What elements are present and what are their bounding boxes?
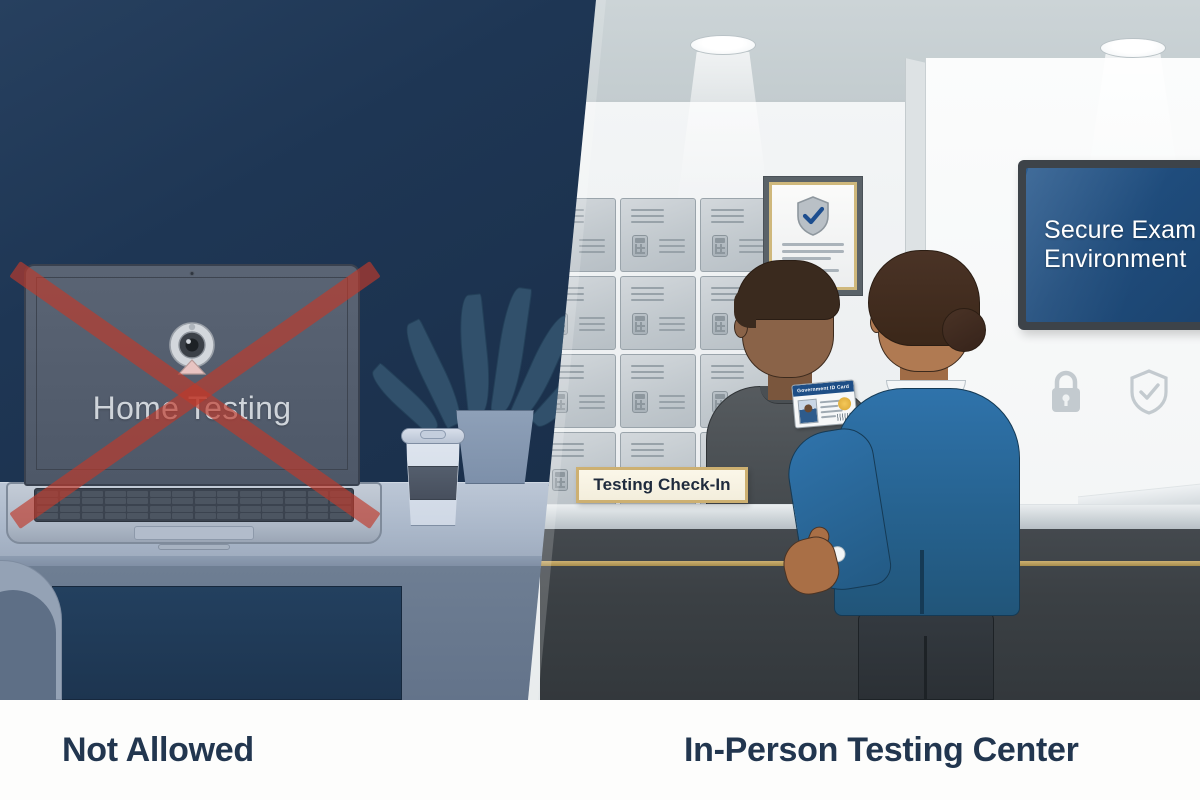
keyboard-key	[127, 506, 148, 512]
locker-door	[620, 354, 696, 428]
scene: Secure Exam Environment	[0, 0, 1200, 700]
locker-vent	[631, 449, 664, 451]
locker-vent	[659, 251, 684, 253]
keyboard-key	[37, 506, 58, 512]
locker-vent	[631, 455, 664, 457]
staff-hair-bun	[942, 308, 986, 352]
keyboard-key	[105, 506, 126, 512]
keyboard-key	[37, 498, 58, 504]
keyboard-key	[330, 498, 351, 504]
keyboard-key	[150, 506, 171, 512]
keyboard-key	[285, 513, 306, 519]
keyboard-key	[217, 491, 238, 497]
test-taker-sideburn	[734, 288, 756, 328]
keyboard-key	[308, 506, 329, 512]
locker-vent	[579, 239, 604, 241]
laptop: Home Testing	[6, 264, 382, 560]
locker-vent	[659, 239, 684, 241]
locker-vent	[659, 317, 684, 319]
keyboard-key	[240, 491, 261, 497]
locker-vent	[551, 443, 584, 445]
keyboard-key	[308, 498, 329, 504]
monitor-screen: Secure Exam Environment	[1026, 168, 1200, 322]
coffee-cup	[404, 428, 462, 526]
keyboard-key	[172, 491, 193, 497]
keyboard-key	[285, 491, 306, 497]
locker-vent	[659, 407, 684, 409]
locker-keypad-icon	[632, 235, 648, 257]
locker-vent	[579, 401, 604, 403]
keyboard-key	[82, 513, 103, 519]
security-icon-row	[1046, 368, 1200, 416]
locker-vent	[579, 317, 604, 319]
keyboard-key	[195, 513, 216, 519]
keyboard-key	[195, 491, 216, 497]
keyboard-key	[330, 491, 351, 497]
keyboard-key	[150, 491, 171, 497]
monitor-message: Secure Exam Environment	[1026, 216, 1196, 275]
keyboard-key	[217, 506, 238, 512]
ceiling-light-icon	[690, 35, 756, 55]
keyboard-key	[172, 506, 193, 512]
keyboard-key	[240, 498, 261, 504]
wall-monitor: Secure Exam Environment	[1018, 160, 1200, 330]
keyboard-key	[262, 506, 283, 512]
keyboard-key	[37, 513, 58, 519]
keyboard-key	[37, 491, 58, 497]
keyboard-key	[195, 506, 216, 512]
keyboard-key	[60, 498, 81, 504]
keyboard-key	[262, 498, 283, 504]
webcam-icon	[161, 320, 223, 376]
laptop-screen: Home Testing	[36, 277, 348, 470]
ceiling-light-icon	[1100, 38, 1166, 58]
locker-vent	[579, 329, 604, 331]
shield-check-icon	[795, 195, 831, 237]
locker-vent	[631, 293, 664, 295]
laptop-lid: Home Testing	[24, 264, 360, 486]
locker-vent	[631, 443, 664, 445]
cup-lid-tab	[420, 430, 446, 439]
keyboard-key	[240, 513, 261, 519]
keyboard-key	[127, 491, 148, 497]
locker-vent	[579, 323, 604, 325]
keyboard-key	[240, 506, 261, 512]
staff-member	[824, 250, 1030, 700]
keyboard-key	[60, 513, 81, 519]
locker-vent	[631, 299, 664, 301]
monitor-line-2: Environment	[1044, 245, 1196, 275]
cup-sleeve	[408, 466, 458, 500]
laptop-trackpad	[134, 526, 254, 540]
locker-door	[620, 276, 696, 350]
locker-vent	[631, 365, 664, 367]
staff-leg-split	[924, 636, 927, 700]
locker-vent	[739, 239, 764, 241]
keyboard-key	[172, 513, 193, 519]
locker-vent	[739, 245, 764, 247]
office-chair-seat	[0, 590, 56, 700]
locker-vent	[579, 407, 604, 409]
locker-vent	[631, 221, 664, 223]
laptop-keyboard	[34, 488, 354, 522]
keyboard-key	[60, 506, 81, 512]
locker-keypad-icon	[632, 313, 648, 335]
keyboard-key	[105, 513, 126, 519]
keyboard-key	[105, 491, 126, 497]
keyboard-key	[127, 513, 148, 519]
keyboard-key	[217, 498, 238, 504]
locker-vent	[631, 377, 664, 379]
keyboard-key	[172, 498, 193, 504]
laptop-camera-dot	[190, 271, 195, 276]
monitor-line-1: Secure Exam	[1044, 216, 1196, 246]
illustration-stage: Secure Exam Environment	[0, 0, 1200, 800]
locker-keypad-icon	[552, 469, 568, 491]
lock-icon	[1046, 368, 1086, 416]
locker-vent	[579, 245, 604, 247]
keyboard-key	[82, 491, 103, 497]
locker-vent	[659, 329, 684, 331]
keyboard-key	[82, 498, 103, 504]
locker-vent	[631, 287, 664, 289]
home-desk-drawer	[52, 586, 402, 700]
locker-vent	[551, 455, 584, 457]
locker-vent	[631, 371, 664, 373]
locker-door	[620, 198, 696, 272]
plant-pot	[456, 410, 534, 484]
caption-left: Not Allowed	[62, 731, 254, 770]
shield-check-icon	[1128, 368, 1170, 416]
keyboard-key	[127, 498, 148, 504]
keyboard-key	[262, 513, 283, 519]
keyboard-key	[217, 513, 238, 519]
keyboard-key	[60, 491, 81, 497]
keyboard-key	[285, 498, 306, 504]
locker-vent	[631, 215, 664, 217]
locker-vent	[711, 221, 744, 223]
locker-keypad-icon	[632, 391, 648, 413]
locker-vent	[711, 215, 744, 217]
locker-vent	[739, 251, 764, 253]
locker-vent	[579, 251, 604, 253]
keyboard-key	[330, 513, 351, 519]
keyboard-key	[308, 513, 329, 519]
keyboard-key	[195, 498, 216, 504]
laptop-screen-label: Home Testing	[93, 390, 292, 427]
keyboard-key	[82, 506, 103, 512]
check-in-sign-label: Testing Check-In	[593, 475, 730, 495]
locker-vent	[631, 209, 664, 211]
caption-right: In-Person Testing Center	[684, 731, 1079, 770]
keyboard-key	[285, 506, 306, 512]
locker-vent	[659, 323, 684, 325]
staff-blazer-vent	[920, 550, 924, 614]
keyboard-key	[330, 506, 351, 512]
locker-vent	[659, 245, 684, 247]
caption-bar: Not Allowed In-Person Testing Center	[0, 700, 1200, 800]
id-card-photo	[798, 399, 819, 425]
laptop-front-latch	[158, 544, 230, 550]
locker-vent	[551, 449, 584, 451]
locker-vent	[711, 209, 744, 211]
locker-vent	[579, 395, 604, 397]
keyboard-key	[308, 491, 329, 497]
keyboard-key	[150, 498, 171, 504]
keyboard-key	[262, 491, 283, 497]
check-in-sign: Testing Check-In	[576, 467, 748, 503]
locker-vent	[659, 401, 684, 403]
keyboard-key	[105, 498, 126, 504]
keyboard-key	[150, 513, 171, 519]
locker-keypad-icon	[712, 235, 728, 257]
locker-vent	[659, 395, 684, 397]
